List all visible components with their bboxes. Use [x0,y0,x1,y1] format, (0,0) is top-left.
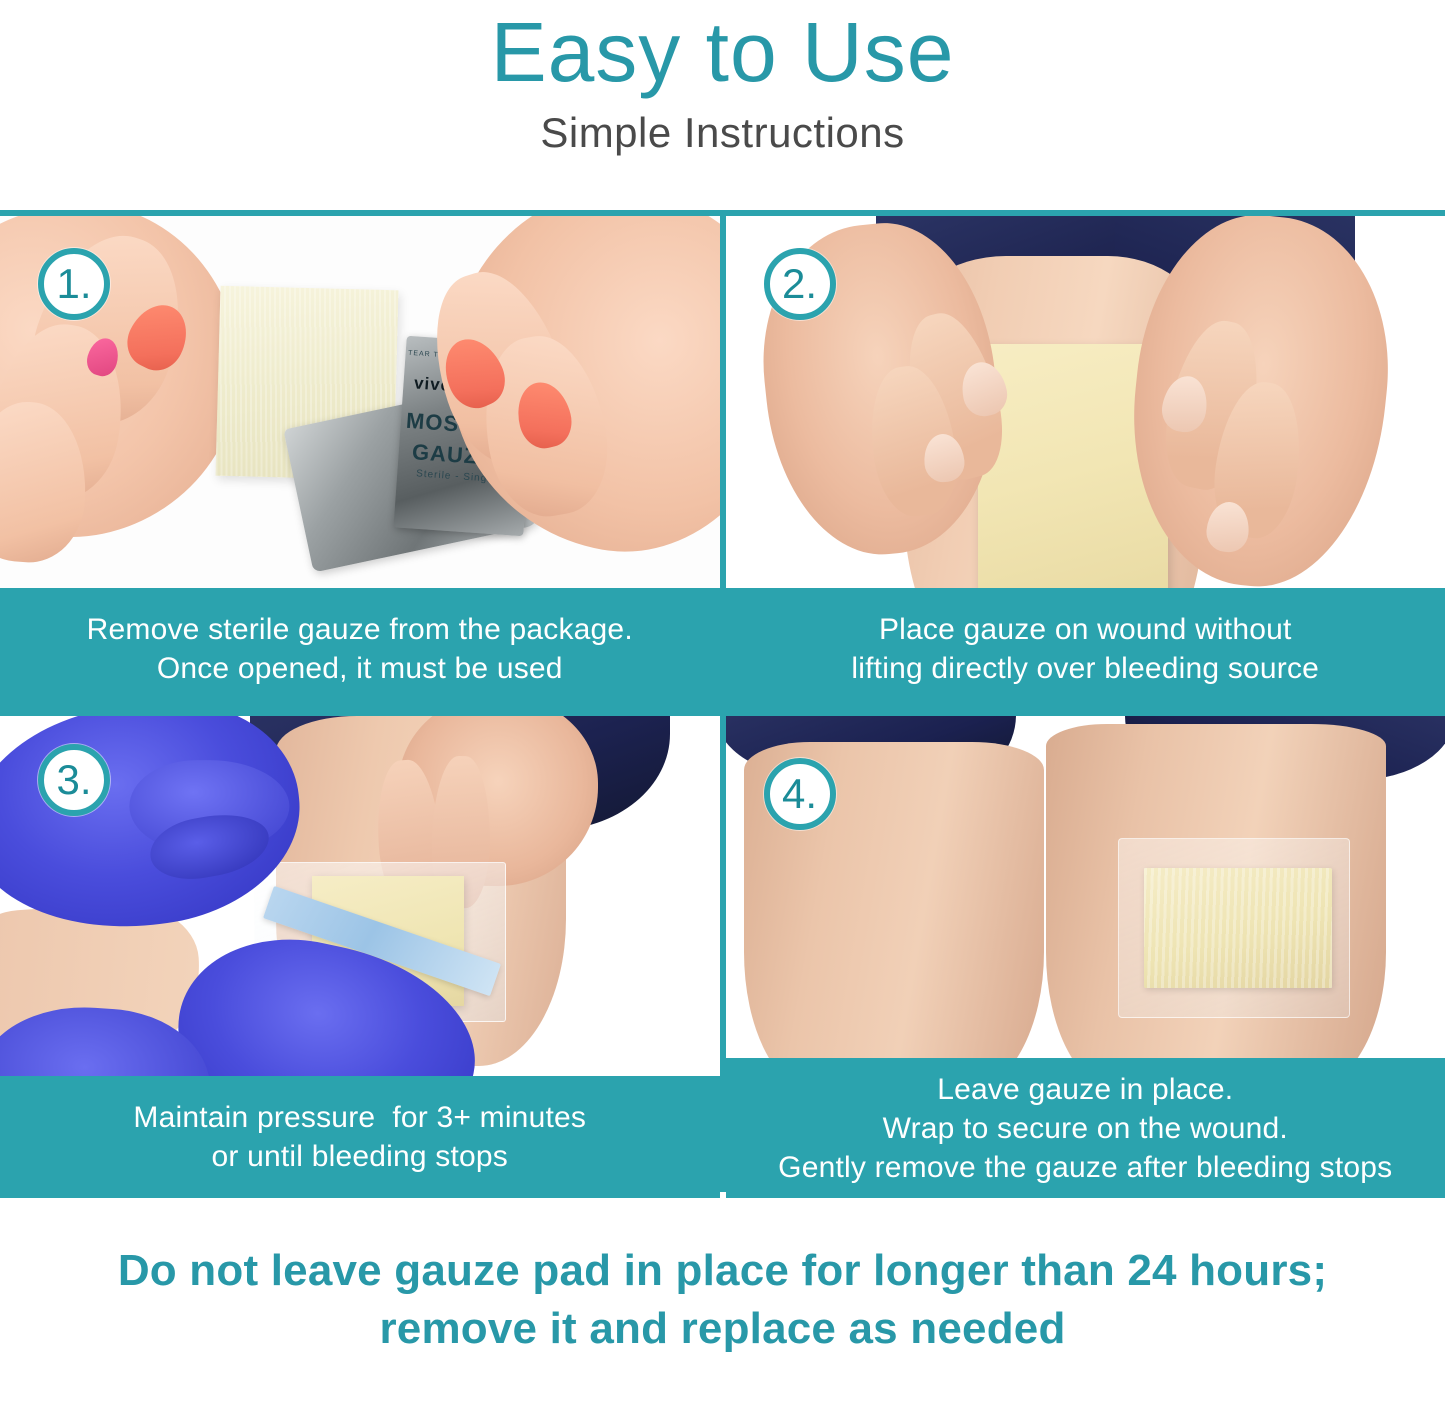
step-card-4: 4. Leave gauze in place. Wrap to secure … [726,716,1445,1198]
step-2-badge: 2. [764,248,836,320]
step-card-2: 2. Place gauze on wound without lifting … [726,216,1445,710]
step-card-3: 3. Maintain pressure for 3+ minutes or u… [0,716,720,1198]
instruction-infographic: Easy to Use Simple Instructions TEAR TO … [0,0,1445,1401]
caption-line: Remove sterile gauze from the package. [87,610,633,649]
header: Easy to Use Simple Instructions [0,0,1445,162]
footer-line: remove it and replace as needed [379,1300,1065,1358]
steps-grid: TEAR TO OPEN vivecare MOSTATIC GAUZE Ste… [0,210,1445,1192]
caption-line: Wrap to secure on the wound. [883,1109,1288,1148]
page-title: Easy to Use [0,6,1445,98]
caption-line: Maintain pressure for 3+ minutes [133,1098,586,1137]
step-4-photo: 4. [726,716,1445,1058]
step-3-caption: Maintain pressure for 3+ minutes or unti… [0,1076,720,1198]
page-subtitle: Simple Instructions [0,104,1445,162]
step-4-caption: Leave gauze in place. Wrap to secure on … [726,1058,1445,1198]
step-2-caption: Place gauze on wound without lifting dir… [726,588,1445,710]
footer-line: Do not leave gauze pad in place for long… [118,1242,1327,1300]
step-2-photo: 2. [726,216,1445,588]
step-1-caption: Remove sterile gauze from the package. O… [0,588,720,710]
step-1-badge: 1. [38,248,110,320]
caption-line: Gently remove the gauze after bleeding s… [778,1148,1392,1187]
step-1-photo: TEAR TO OPEN vivecare MOSTATIC GAUZE Ste… [0,216,720,588]
caption-line: or until bleeding stops [212,1137,508,1176]
steps-row-1: TEAR TO OPEN vivecare MOSTATIC GAUZE Ste… [0,216,1445,710]
step-3-photo: 3. [0,716,720,1076]
steps-row-2: 3. Maintain pressure for 3+ minutes or u… [0,716,1445,1198]
gauze-pad-shape [1144,868,1332,988]
caption-line: Place gauze on wound without [879,610,1292,649]
caption-line: Once opened, it must be used [157,649,563,688]
step-3-badge: 3. [38,744,110,816]
step-4-badge: 4. [764,758,836,830]
caption-line: lifting directly over bleeding source [851,649,1319,688]
caption-line: Leave gauze in place. [937,1070,1233,1109]
step-card-1: TEAR TO OPEN vivecare MOSTATIC GAUZE Ste… [0,216,720,710]
footer-warning: Do not leave gauze pad in place for long… [0,1198,1445,1401]
